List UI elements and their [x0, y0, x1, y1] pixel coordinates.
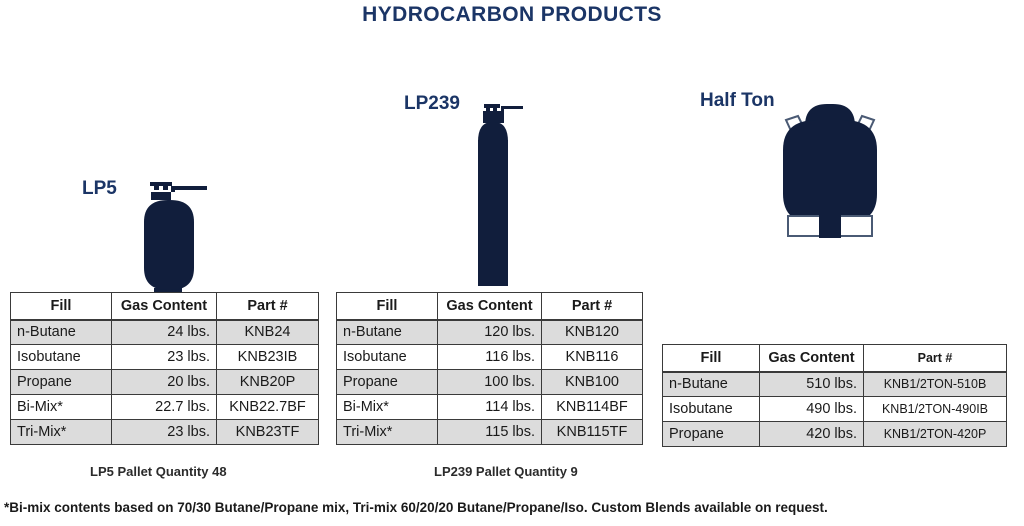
cell-fill: Isobutane: [663, 397, 760, 422]
cell-part: KNB20P: [217, 370, 319, 395]
cell-fill: n-Butane: [663, 372, 760, 397]
table-row: Tri-Mix* 115 lbs. KNB115TF: [337, 420, 643, 445]
cell-part: KNB114BF: [542, 395, 643, 420]
table-row: n-Butane 24 lbs. KNB24: [11, 320, 319, 345]
cell-part: KNB24: [217, 320, 319, 345]
cell-part: KNB23IB: [217, 345, 319, 370]
cell-gas: 420 lbs.: [760, 422, 864, 447]
page-title: HYDROCARBON PRODUCTS: [0, 3, 1024, 27]
cell-fill: Bi-Mix*: [11, 395, 112, 420]
column-header-fill: Fill: [337, 293, 438, 320]
cell-part: KNB1/2TON-510B: [864, 372, 1007, 397]
cell-fill: Isobutane: [11, 345, 112, 370]
table-row: Isobutane 116 lbs. KNB116: [337, 345, 643, 370]
cell-fill: Bi-Mix*: [337, 395, 438, 420]
spec-table-lp5: Fill Gas Content Part # n-Butane 24 lbs.…: [10, 292, 319, 445]
table-row: Propane 20 lbs. KNB20P: [11, 370, 319, 395]
cell-fill: Tri-Mix*: [337, 420, 438, 445]
column-header-part-number: Part #: [217, 293, 319, 320]
cell-gas: 22.7 lbs.: [112, 395, 217, 420]
table-header-row: Fill Gas Content Part #: [11, 293, 319, 320]
cell-fill: Propane: [11, 370, 112, 395]
column-header-fill: Fill: [663, 345, 760, 372]
column-header-gas-content: Gas Content: [438, 293, 542, 320]
column-header-part-number: Part #: [864, 345, 1007, 372]
cell-fill: n-Butane: [337, 320, 438, 345]
cell-fill: n-Butane: [11, 320, 112, 345]
cell-gas: 510 lbs.: [760, 372, 864, 397]
cell-part: KNB22.7BF: [217, 395, 319, 420]
table-row: n-Butane 120 lbs. KNB120: [337, 320, 643, 345]
table-row: Isobutane 490 lbs. KNB1/2TON-490IB: [663, 397, 1007, 422]
cell-gas: 23 lbs.: [112, 420, 217, 445]
spec-table-lp239: Fill Gas Content Part # n-Butane 120 lbs…: [336, 292, 643, 445]
cell-gas: 23 lbs.: [112, 345, 217, 370]
column-header-fill: Fill: [11, 293, 112, 320]
cell-gas: 115 lbs.: [438, 420, 542, 445]
half-ton-tank-icon: [762, 96, 898, 243]
cell-gas: 100 lbs.: [438, 370, 542, 395]
table-row: Isobutane 23 lbs. KNB23IB: [11, 345, 319, 370]
cell-part: KNB115TF: [542, 420, 643, 445]
table-row: Propane 420 lbs. KNB1/2TON-420P: [663, 422, 1007, 447]
table-header-row: Fill Gas Content Part #: [663, 345, 1007, 372]
table-row: Tri-Mix* 23 lbs. KNB23TF: [11, 420, 319, 445]
table-row: Bi-Mix* 22.7 lbs. KNB22.7BF: [11, 395, 319, 420]
table-row: Propane 100 lbs. KNB100: [337, 370, 643, 395]
footnote: *Bi-mix contents based on 70/30 Butane/P…: [4, 500, 1020, 515]
gas-cylinder-tall-icon: [470, 100, 532, 295]
cell-part: KNB100: [542, 370, 643, 395]
cell-gas: 490 lbs.: [760, 397, 864, 422]
column-header-gas-content: Gas Content: [760, 345, 864, 372]
product-label-lp239: LP239: [404, 93, 460, 115]
cell-part: KNB1/2TON-420P: [864, 422, 1007, 447]
cell-fill: Propane: [663, 422, 760, 447]
cell-fill: Isobutane: [337, 345, 438, 370]
propane-cylinder-squat-icon: [124, 178, 214, 305]
column-header-gas-content: Gas Content: [112, 293, 217, 320]
cell-gas: 116 lbs.: [438, 345, 542, 370]
cell-part: KNB1/2TON-490IB: [864, 397, 1007, 422]
column-header-part-number: Part #: [542, 293, 643, 320]
spec-table-halfton: Fill Gas Content Part # n-Butane 510 lbs…: [662, 344, 1007, 447]
pallet-quantity-lp239: LP239 Pallet Quantity 9: [434, 464, 578, 479]
cell-part: KNB116: [542, 345, 643, 370]
cell-gas: 114 lbs.: [438, 395, 542, 420]
cell-gas: 20 lbs.: [112, 370, 217, 395]
pallet-quantity-lp5: LP5 Pallet Quantity 48: [90, 464, 227, 479]
table-header-row: Fill Gas Content Part #: [337, 293, 643, 320]
cell-gas: 120 lbs.: [438, 320, 542, 345]
cell-part: KNB23TF: [217, 420, 319, 445]
cell-fill: Propane: [337, 370, 438, 395]
cell-gas: 24 lbs.: [112, 320, 217, 345]
product-label-lp5: LP5: [82, 178, 117, 200]
table-row: n-Butane 510 lbs. KNB1/2TON-510B: [663, 372, 1007, 397]
cell-part: KNB120: [542, 320, 643, 345]
cell-fill: Tri-Mix*: [11, 420, 112, 445]
table-row: Bi-Mix* 114 lbs. KNB114BF: [337, 395, 643, 420]
